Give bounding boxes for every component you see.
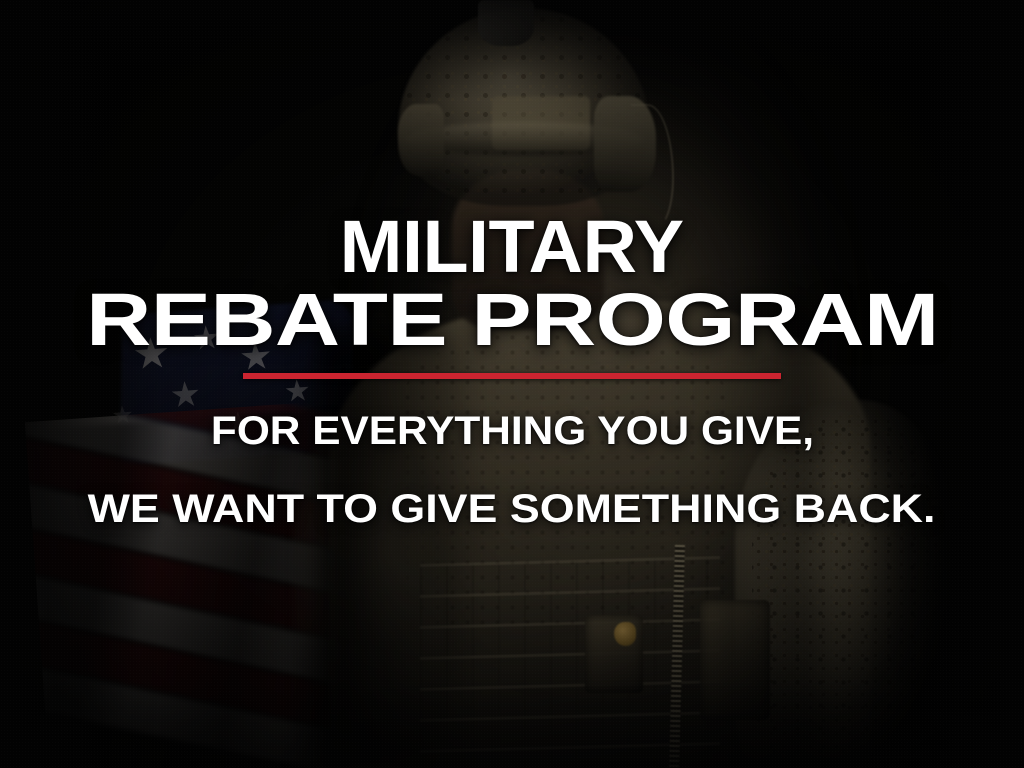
military-rebate-poster: MILITARY REBATE PROGRAM FOR EVERYTHING Y… <box>0 0 1024 768</box>
subheadline-line-2: WE WANT TO GIVE SOMETHING BACK. <box>88 483 936 535</box>
red-divider-rule <box>243 373 781 379</box>
headline-line-1: MILITARY <box>340 214 684 281</box>
poster-text-content: MILITARY REBATE PROGRAM FOR EVERYTHING Y… <box>0 0 1024 768</box>
headline-line-2: REBATE PROGRAM <box>86 287 938 354</box>
subheadline-line-1: FOR EVERYTHING YOU GIVE, <box>210 405 813 457</box>
